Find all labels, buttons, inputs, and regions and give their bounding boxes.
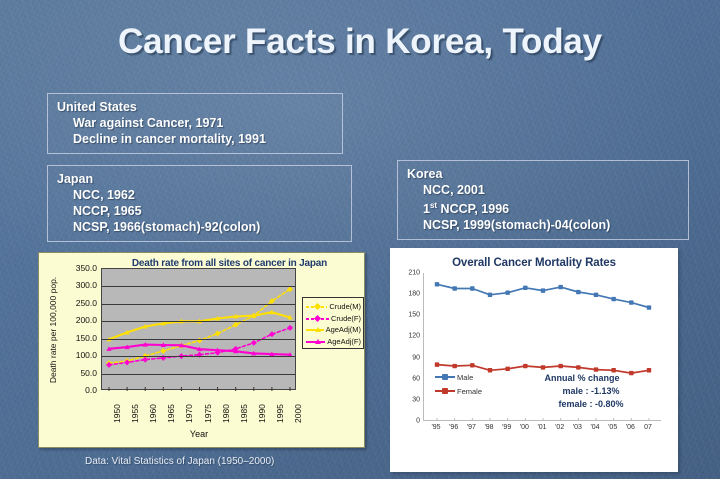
japan-legend-label: Crude(M) xyxy=(329,302,361,311)
japan-gridline xyxy=(102,374,295,375)
korea-legend-label: Male xyxy=(457,373,473,382)
korea-chart-x-axis: '95'96'97'98'99'00'01'02'03'04'05'0607 xyxy=(423,424,661,438)
korea-xtick: '06 xyxy=(626,424,635,431)
japan-chart-x-axis: 1950195519601965197019751980198519901995… xyxy=(101,393,298,429)
japan-gridline xyxy=(102,339,295,340)
japan-legend-label: AgeAdj(F) xyxy=(327,337,361,346)
japan-legend-item[interactable]: AgeAdj(M) xyxy=(306,324,361,336)
japan-ytick: 350.0 xyxy=(76,263,97,273)
chart-japan-death-rate: Death rate from all sites of cancer in J… xyxy=(38,252,365,448)
japan-xtick: 1990 xyxy=(257,404,267,423)
japan-legend-swatch xyxy=(306,337,325,346)
japan-ytick: 150.0 xyxy=(76,333,97,343)
korea-line-3: NCSP, 1999(stomach)-04(colon) xyxy=(407,217,680,233)
japan-line-1: NCC, 1962 xyxy=(57,187,343,203)
japan-xtick: 1955 xyxy=(130,404,140,423)
korea-ytick: 180 xyxy=(408,291,420,298)
korea-legend-label: Female xyxy=(457,387,482,396)
japan-legend-label: Crude(F) xyxy=(331,314,361,323)
korea-ytick: 90 xyxy=(412,354,420,361)
japan-xtick: 1980 xyxy=(221,404,231,423)
textbox-united-states: United States War against Cancer, 1971 D… xyxy=(47,93,343,154)
textbox-japan: Japan NCC, 1962 NCCP, 1965 NCSP, 1966(st… xyxy=(47,165,352,242)
korea-line-2: 1st NCCP, 1996 xyxy=(407,198,680,217)
slide-canvas: Cancer Facts in Korea, Today United Stat… xyxy=(0,0,720,479)
slide-caption: Data: Vital Statistics of Japan (1950–20… xyxy=(85,456,274,467)
japan-xtick: 1965 xyxy=(166,404,176,423)
korea-legend-item[interactable]: Female xyxy=(435,384,482,398)
japan-ytick: 0.0 xyxy=(85,385,97,395)
japan-line-2: NCCP, 1965 xyxy=(57,203,343,219)
japan-xtick: 1950 xyxy=(112,404,122,423)
us-line-1: War against Cancer, 1971 xyxy=(57,115,334,131)
japan-legend-swatch xyxy=(306,325,324,334)
japan-ytick: 300.0 xyxy=(76,280,97,290)
annotation-female: female : -0.80% xyxy=(502,398,662,411)
japan-chart-ylabel: Death rate per 100,000 pop. xyxy=(48,266,58,394)
korea-ytick: 30 xyxy=(412,396,420,403)
korea-ytick: 210 xyxy=(408,270,420,277)
japan-xtick: 1970 xyxy=(184,404,194,423)
japan-xtick: 2000 xyxy=(293,404,303,423)
korea-xtick: '01 xyxy=(537,424,546,431)
korea-ytick: 120 xyxy=(408,333,420,340)
korea-xtick: '95 xyxy=(431,424,440,431)
korea-xtick: '99 xyxy=(502,424,511,431)
us-line-2: Decline in cancer mortality, 1991 xyxy=(57,131,334,147)
japan-legend-item[interactable]: AgeAdj(F) xyxy=(306,336,361,348)
korea-line-2-prefix: 1 xyxy=(423,202,430,216)
korea-ytick: 150 xyxy=(408,312,420,319)
japan-ytick: 250.0 xyxy=(76,298,97,308)
japan-ytick: 50.0 xyxy=(80,368,97,378)
japan-chart-legend: Crude(M)Crude(F)AgeAdj(M)AgeAdj(F) xyxy=(302,297,364,349)
japan-line-3: NCSP, 1966(stomach)-92(colon) xyxy=(57,219,343,235)
korea-heading: Korea xyxy=(407,166,680,182)
korea-line-2-rest: NCCP, 1996 xyxy=(437,202,509,216)
japan-xtick: 1960 xyxy=(148,404,158,423)
annotation-heading: Annual % change xyxy=(502,372,662,385)
japan-chart-xlabel: Year xyxy=(101,429,297,439)
korea-chart-legend: MaleFemale xyxy=(435,370,482,398)
korea-line-1: NCC, 2001 xyxy=(407,182,680,198)
japan-chart-y-axis: 0.050.0100.0150.0200.0250.0300.0350.0 xyxy=(63,267,97,391)
korea-ytick: 0 xyxy=(416,418,420,425)
japan-legend-swatch xyxy=(306,314,329,323)
korea-chart-title: Overall Cancer Mortality Rates xyxy=(390,257,678,269)
japan-legend-item[interactable]: Crude(F) xyxy=(306,313,361,325)
korea-xtick: '04 xyxy=(590,424,599,431)
japan-xtick: 1995 xyxy=(275,404,285,423)
japan-legend-label: AgeAdj(M) xyxy=(326,325,361,334)
textbox-korea: Korea NCC, 2001 1st NCCP, 1996 NCSP, 199… xyxy=(397,160,689,240)
japan-legend-swatch xyxy=(306,302,327,311)
japan-gridline xyxy=(102,321,295,322)
japan-chart-plot-area xyxy=(101,268,296,390)
korea-ytick: 60 xyxy=(412,375,420,382)
korea-line-2-ordinal: st xyxy=(430,201,437,210)
annotation-male: male : -1.13% xyxy=(502,385,662,398)
korea-xtick: 07 xyxy=(644,424,652,431)
korea-legend-item[interactable]: Male xyxy=(435,370,482,384)
korea-xtick: '00 xyxy=(520,424,529,431)
japan-legend-item[interactable]: Crude(M) xyxy=(306,301,361,313)
korea-xtick: '05 xyxy=(608,424,617,431)
korea-chart-y-axis: 0306090120150180210 xyxy=(394,273,420,421)
korea-chart-annotation: Annual % change male : -1.13% female : -… xyxy=(502,372,662,411)
korea-xtick: '96 xyxy=(449,424,458,431)
page-title: Cancer Facts in Korea, Today xyxy=(0,22,720,62)
korea-xtick: '03 xyxy=(573,424,582,431)
japan-xtick: 1985 xyxy=(239,404,249,423)
chart-korea-mortality: Overall Cancer Mortality Rates 030609012… xyxy=(390,248,678,472)
japan-ytick: 200.0 xyxy=(76,315,97,325)
korea-legend-swatch xyxy=(435,373,455,381)
japan-heading: Japan xyxy=(57,171,343,187)
japan-gridline xyxy=(102,304,295,305)
japan-gridline xyxy=(102,356,295,357)
korea-xtick: '98 xyxy=(484,424,493,431)
japan-xtick: 1975 xyxy=(203,404,213,423)
korea-legend-swatch xyxy=(435,387,455,395)
us-heading: United States xyxy=(57,99,334,115)
japan-ytick: 100.0 xyxy=(76,350,97,360)
korea-xtick: '97 xyxy=(467,424,476,431)
korea-xtick: '02 xyxy=(555,424,564,431)
japan-gridline xyxy=(102,286,295,287)
